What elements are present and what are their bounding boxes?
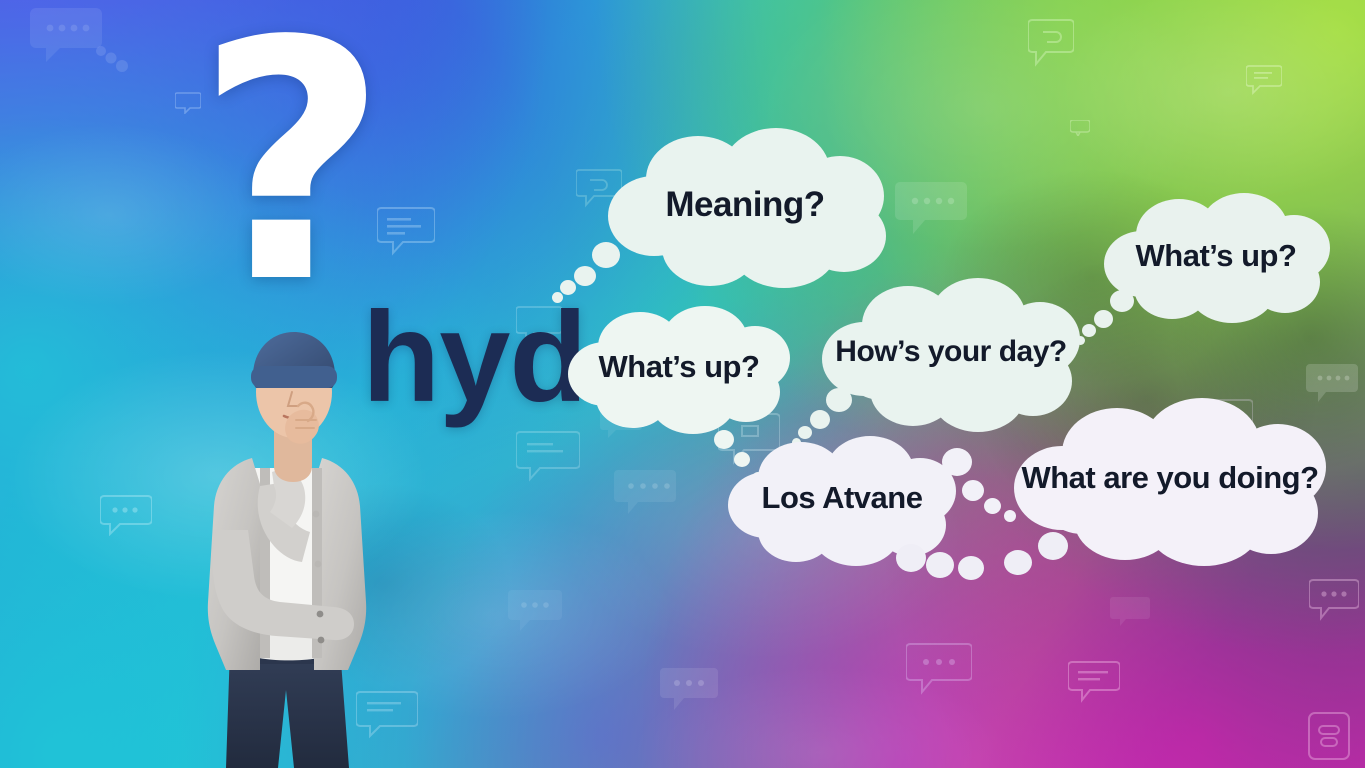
thought-bubble-whats-up-left: What’s up? <box>566 306 792 434</box>
chat-bubble-dots-icon <box>614 468 676 518</box>
thought-bubble-whats-up-right: What’s up? <box>1100 193 1332 325</box>
chat-bubble-dots-icon <box>100 494 152 536</box>
chat-bubble-square-icon <box>906 642 972 698</box>
bubble-text: What are you doing? <box>1010 398 1330 566</box>
chat-bubble-dot-trail-icon <box>96 45 130 73</box>
thought-bubble-meaning: Meaning? <box>600 128 890 288</box>
chat-bubble-dots-icon <box>508 588 562 634</box>
bubble-text: What’s up? <box>1100 193 1332 325</box>
chat-bubble-dots-icon <box>1110 595 1150 631</box>
chat-bubble-reply-icon <box>1028 18 1074 70</box>
bubble-text: What’s up? <box>566 306 792 434</box>
chat-bubble-small-icon <box>1070 120 1090 136</box>
thinking-woman-photo <box>196 318 402 768</box>
bubble-text: Los Atvane <box>726 436 958 566</box>
chat-bubble-lines-icon <box>1246 64 1282 96</box>
bubble-text: Meaning? <box>600 128 890 288</box>
chat-bubble-lines-icon <box>1068 660 1120 704</box>
chat-bubble-lines-icon <box>1309 578 1359 622</box>
chat-bubble-lines-icon <box>516 430 580 484</box>
chat-bubble-dots-icon <box>30 4 102 66</box>
chat-bubble-dots-icon <box>660 666 718 714</box>
chat-bubble-dots-icon <box>895 180 967 240</box>
poster-canvas: ? hyd <box>0 0 1365 768</box>
thought-bubble-what-are-you-doing: What are you doing? <box>1010 398 1330 566</box>
chat-bubble-square-icon <box>1308 712 1350 760</box>
thought-bubble-los-atvane: Los Atvane <box>726 436 958 566</box>
question-mark-graphic: ? <box>196 18 386 318</box>
